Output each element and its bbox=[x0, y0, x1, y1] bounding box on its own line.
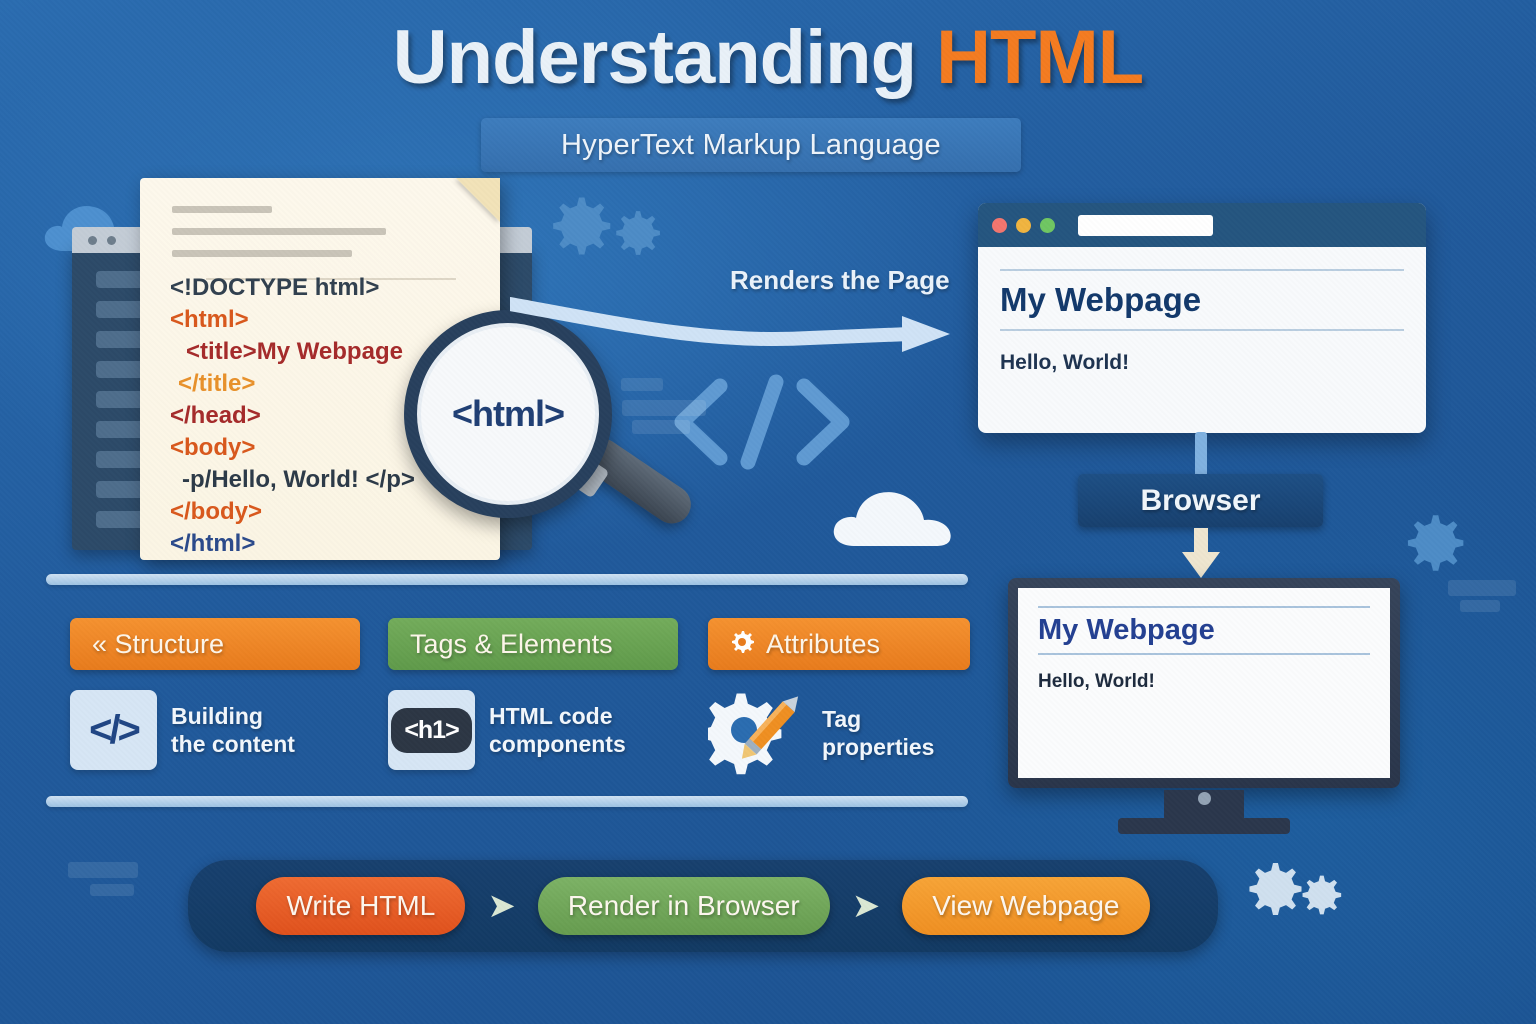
card-header[interactable]: « Structure bbox=[70, 618, 360, 670]
code-line: </title> bbox=[178, 370, 255, 397]
code-block-deco bbox=[1448, 580, 1516, 596]
page-fold-icon bbox=[456, 178, 500, 222]
card-header[interactable]: Tags & Elements bbox=[388, 618, 678, 670]
card-caption-line1: Building bbox=[171, 702, 295, 730]
card-caption-line2: the content bbox=[171, 730, 295, 758]
code-line: </body> bbox=[170, 498, 262, 525]
workflow-arrow-icon: ➤ bbox=[487, 889, 516, 923]
section-divider-top bbox=[46, 574, 968, 585]
browser-content: My Webpage Hello, World! bbox=[978, 247, 1426, 391]
desktop-monitor: My Webpage Hello, World! bbox=[1008, 578, 1400, 836]
monitor-screen: My Webpage Hello, World! bbox=[1018, 588, 1390, 778]
browser-label-text: Browser bbox=[1140, 484, 1260, 518]
card-caption: Building the content bbox=[171, 702, 295, 758]
cloud-icon bbox=[828, 480, 968, 555]
editor-dot-icon bbox=[88, 236, 97, 245]
subtitle-banner: HyperText Markup Language bbox=[481, 118, 1021, 172]
browser-label: Browser bbox=[1078, 474, 1323, 527]
content-divider bbox=[1038, 653, 1370, 655]
workflow-step-label: Render in Browser bbox=[568, 890, 800, 922]
browser-titlebar bbox=[978, 203, 1426, 247]
card-caption-line1: HTML code bbox=[489, 702, 626, 730]
card-caption: HTML code components bbox=[489, 702, 626, 758]
title-accent: HTML bbox=[936, 15, 1143, 100]
workflow-step-view-webpage[interactable]: View Webpage bbox=[902, 877, 1149, 935]
card-caption-line2: components bbox=[489, 730, 626, 758]
card-caption: Tag properties bbox=[822, 705, 934, 761]
renders-the-page-label: Renders the Page bbox=[730, 265, 950, 296]
icon-glyph: <h1> bbox=[391, 708, 471, 753]
title-primary: Understanding bbox=[393, 15, 916, 100]
rendered-paragraph: Hello, World! bbox=[1000, 337, 1404, 375]
content-divider bbox=[1038, 606, 1370, 608]
card-body: <h1> HTML code components bbox=[388, 690, 678, 770]
page-title: Understanding HTML bbox=[0, 14, 1536, 101]
attributes-badge-icon bbox=[730, 630, 754, 659]
content-divider bbox=[1000, 269, 1404, 271]
card-title: Attributes bbox=[766, 629, 880, 660]
workflow-bar: Write HTML ➤ Render in Browser ➤ View We… bbox=[188, 860, 1218, 952]
code-block-deco bbox=[1460, 600, 1500, 612]
gear-icon bbox=[1242, 858, 1304, 925]
feature-card-attributes[interactable]: Attributes Tag properties bbox=[708, 618, 970, 776]
workflow-step-render-in-browser[interactable]: Render in Browser bbox=[538, 877, 830, 935]
rendered-heading: My Webpage bbox=[1000, 277, 1404, 323]
workflow-arrow-icon: ➤ bbox=[852, 889, 881, 923]
feature-card-structure[interactable]: « Structure </> Building the content bbox=[70, 618, 360, 770]
gear-icon bbox=[1297, 872, 1343, 923]
workflow-step-label: View Webpage bbox=[932, 890, 1119, 922]
editor-dot-icon bbox=[107, 236, 116, 245]
card-body: </> Building the content bbox=[70, 690, 360, 770]
code-line: <html> bbox=[170, 306, 249, 333]
magnifier-lens: <html> bbox=[404, 310, 612, 518]
monitor-paragraph: Hello, World! bbox=[1038, 659, 1370, 693]
icon-glyph: </> bbox=[89, 708, 138, 753]
section-divider-bottom bbox=[46, 796, 968, 807]
code-line: <body> bbox=[170, 434, 255, 461]
browser-window[interactable]: My Webpage Hello, World! bbox=[978, 203, 1426, 433]
magnifier-lens-text: <html> bbox=[452, 393, 564, 435]
code-line: -p/Hello, World! </p> bbox=[182, 466, 415, 493]
down-arrow-icon bbox=[1178, 528, 1224, 585]
card-caption-line2: properties bbox=[822, 733, 934, 761]
card-caption-line1: Tag bbox=[822, 705, 934, 733]
browser-minimize-dot-icon[interactable] bbox=[1016, 218, 1031, 233]
code-watermark-icon bbox=[672, 372, 852, 477]
gear-icon bbox=[1400, 510, 1466, 581]
magnifier-icon: <html> bbox=[404, 310, 694, 560]
gear-icon bbox=[610, 207, 662, 264]
workflow-step-label: Write HTML bbox=[286, 890, 435, 922]
code-line: <!DOCTYPE html> bbox=[170, 274, 379, 301]
infographic-canvas: Understanding HTML HyperText Markup Lang… bbox=[0, 0, 1536, 1024]
code-brackets-icon: </> bbox=[70, 690, 157, 770]
card-title: « Structure bbox=[92, 629, 224, 660]
browser-url-bar[interactable] bbox=[1078, 215, 1213, 236]
feature-card-tags-elements[interactable]: Tags & Elements <h1> HTML code component… bbox=[388, 618, 678, 770]
code-block-deco bbox=[68, 862, 138, 878]
code-line: </html> bbox=[170, 530, 255, 557]
workflow-step-write-html[interactable]: Write HTML bbox=[256, 877, 465, 935]
code-line: </head> bbox=[170, 402, 261, 429]
monitor-bezel: My Webpage Hello, World! bbox=[1008, 578, 1400, 788]
gear-icon bbox=[545, 192, 613, 265]
monitor-heading: My Webpage bbox=[1038, 612, 1370, 649]
code-line: <title>My Webpage bbox=[186, 338, 403, 365]
browser-maximize-dot-icon[interactable] bbox=[1040, 218, 1055, 233]
card-header[interactable]: Attributes bbox=[708, 618, 970, 670]
h1-tag-icon: <h1> bbox=[388, 690, 475, 770]
card-body: Tag properties bbox=[708, 690, 970, 776]
monitor-power-led-icon bbox=[1198, 792, 1211, 805]
content-divider bbox=[1000, 329, 1404, 331]
gear-pencil-icon bbox=[708, 690, 808, 776]
subtitle-text: HyperText Markup Language bbox=[561, 129, 941, 162]
code-block-deco bbox=[90, 884, 134, 896]
card-title: Tags & Elements bbox=[410, 629, 613, 660]
browser-close-dot-icon[interactable] bbox=[992, 218, 1007, 233]
